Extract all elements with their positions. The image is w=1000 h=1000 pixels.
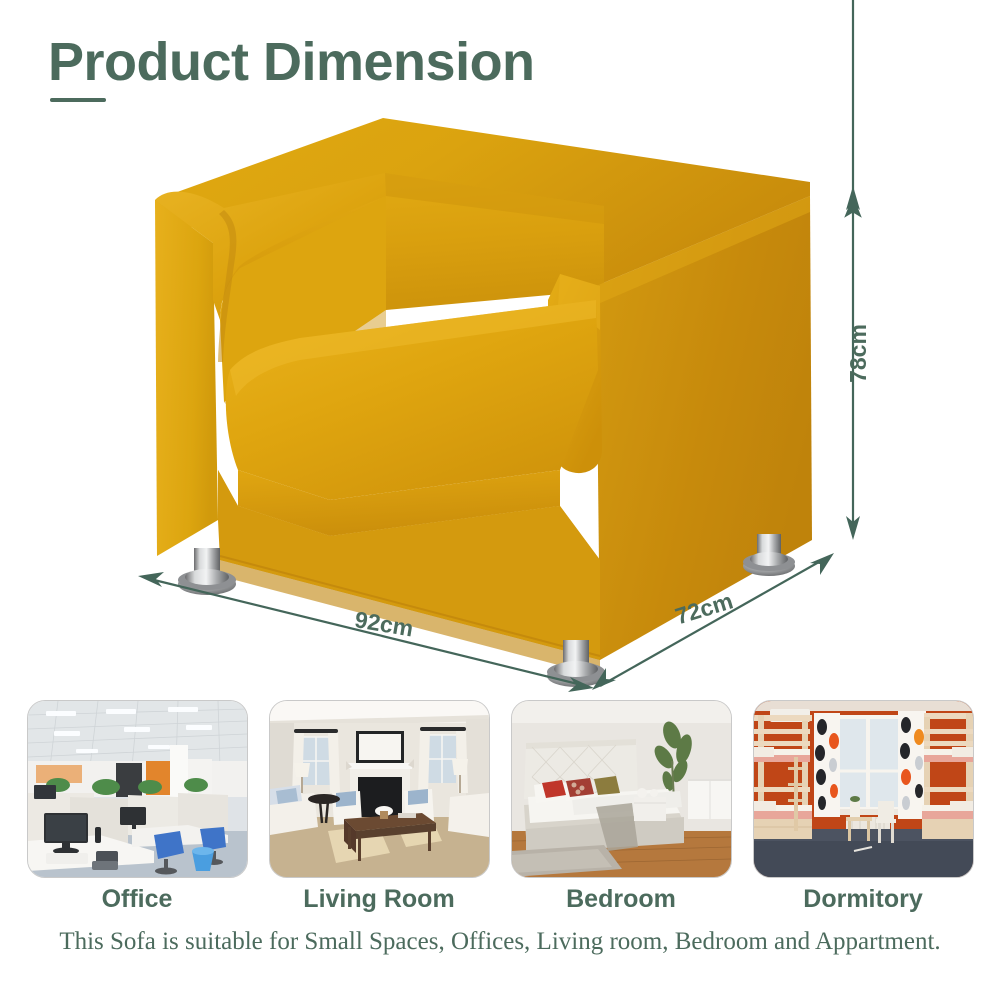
usage-scenario-bedroom[interactable]: Bedroom [511,700,731,914]
office-thumbnail-image [27,700,248,878]
usage-scenario-office[interactable]: Office [27,700,247,914]
usage-scenario-dormitory[interactable]: Dormitory [753,700,973,914]
dimension-height-label: 78cm [845,324,872,383]
curtain-left [814,713,840,817]
usage-scenario-label: Office [102,885,173,914]
usage-scenario-label: Living Room [303,885,454,914]
dimension-line-height [846,0,860,540]
living-room-thumbnail-image [269,700,490,878]
usage-scenario-list: Office [0,700,1000,925]
dormitory-thumbnail-image [753,700,974,878]
usage-scenario-label: Dormitory [803,885,922,914]
curtain-right [898,711,926,819]
usage-scenario-label: Bedroom [566,885,676,914]
suitability-caption: This Sofa is suitable for Small Spaces, … [0,928,1000,956]
bedroom-thumbnail-image [511,700,732,878]
dimension-line-depth [592,553,834,690]
product-dimension-infographic: Product Dimension [0,0,1000,1000]
usage-scenario-living-room[interactable]: Living Room [269,700,489,914]
